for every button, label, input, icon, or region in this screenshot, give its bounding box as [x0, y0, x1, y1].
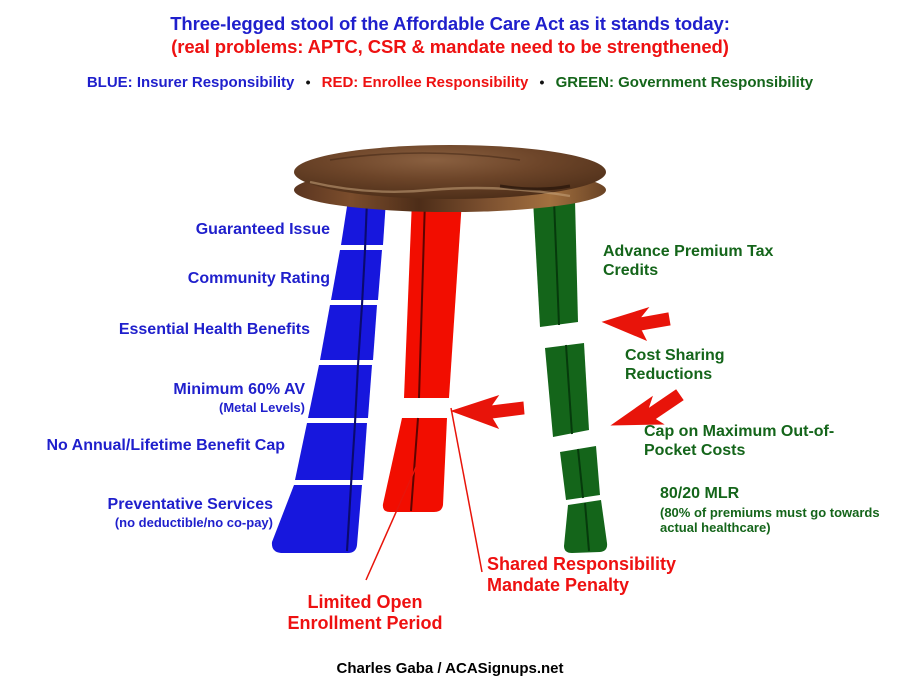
blue-leg-segment-4 — [308, 365, 372, 418]
label-community-rating: Community Rating — [40, 270, 330, 289]
label-minimum-av-sub: (Metal Levels) — [25, 400, 305, 415]
label-no-annual-lifetime-cap: No Annual/Lifetime Benefit Cap — [15, 437, 285, 456]
label-cost-sharing-reductions: Cost Sharing Reductions — [625, 347, 805, 385]
label-cap-on-max-oop: Cap on Maximum Out-of-Pocket Costs — [644, 423, 874, 461]
label-minimum-av: Minimum 60% AV (Metal Levels) — [25, 381, 305, 415]
label-community-rating-text: Community Rating — [188, 270, 330, 287]
blue-leg — [272, 200, 386, 553]
arrow-csr-break-icon — [612, 390, 683, 425]
label-guaranteed-issue-text: Guaranteed Issue — [196, 221, 330, 238]
green-leg — [533, 200, 607, 553]
label-shared-responsibility-mandate-text: Shared Responsibility Mandate Penalty — [487, 554, 676, 595]
blue-leg-segment-2 — [331, 250, 382, 300]
label-essential-health-benefits: Essential Health Benefits — [40, 321, 310, 340]
label-cost-sharing-reductions-text: Cost Sharing Reductions — [625, 347, 725, 383]
label-minimum-av-text: Minimum 60% AV — [173, 381, 305, 398]
label-advance-premium-tax-credits: Advance Premium Tax Credits — [603, 243, 803, 281]
label-limited-open-enrollment-text: Limited Open Enrollment Period — [287, 592, 442, 633]
arrow-mandate-break-icon — [452, 396, 524, 428]
label-preventative-services-text: Preventative Services — [108, 496, 273, 513]
label-guaranteed-issue: Guaranteed Issue — [40, 221, 330, 240]
label-mlr: 80/20 MLR (80% of premiums must go towar… — [660, 485, 890, 536]
arrow-aptc-break-icon — [603, 308, 670, 340]
label-mlr-text: 80/20 MLR — [660, 485, 739, 502]
label-mlr-sub: (80% of premiums must go towards actual … — [660, 505, 890, 536]
footer-credit: Charles Gaba / ACASignups.net — [0, 660, 900, 677]
footer-credit-text: Charles Gaba / ACASignups.net — [337, 660, 564, 677]
label-essential-health-benefits-text: Essential Health Benefits — [119, 321, 310, 338]
stool-seat — [294, 145, 606, 212]
label-advance-premium-tax-credits-text: Advance Premium Tax Credits — [603, 243, 773, 279]
red-leg — [383, 200, 462, 512]
label-cap-on-max-oop-text: Cap on Maximum Out-of-Pocket Costs — [644, 423, 834, 459]
blue-leg-segment-5 — [295, 423, 367, 480]
label-shared-responsibility-mandate: Shared Responsibility Mandate Penalty — [487, 554, 677, 596]
label-preventative-services: Preventative Services (no deductible/no … — [5, 496, 273, 530]
leader-shared-responsibility — [451, 408, 482, 572]
label-no-annual-lifetime-cap-text: No Annual/Lifetime Benefit Cap — [46, 437, 285, 454]
label-limited-open-enrollment: Limited Open Enrollment Period — [270, 592, 460, 634]
label-preventative-services-sub: (no deductible/no co-pay) — [5, 515, 273, 530]
red-leg-segment-1 — [404, 200, 462, 398]
blue-leg-segment-3 — [320, 305, 377, 360]
